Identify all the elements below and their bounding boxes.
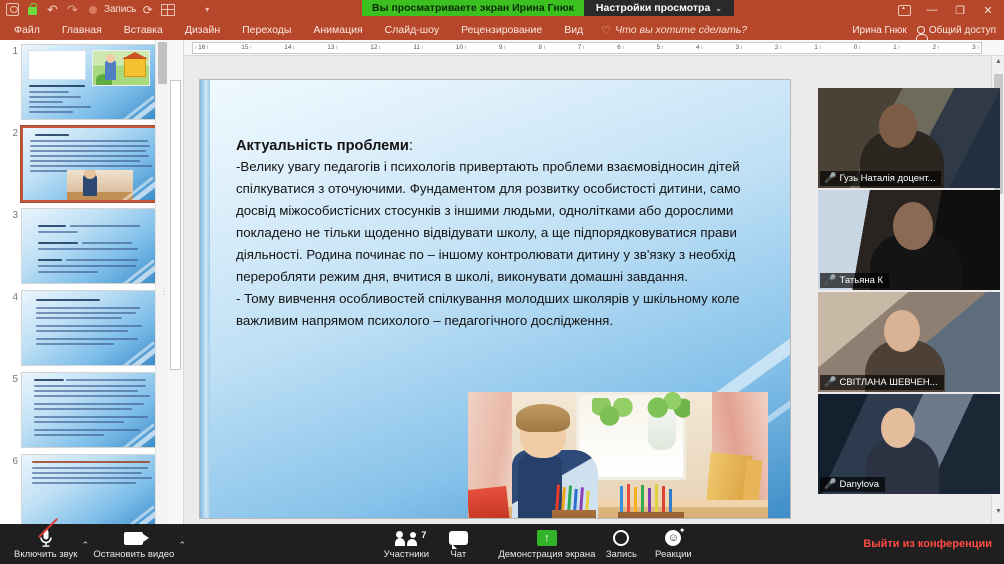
slide-paragraph: спілкуватися з оточуючими. Фундаментом д… (236, 178, 790, 200)
account-name: Ирина Гнюк (852, 25, 906, 36)
participant-video-strip: 🎤 Гузь Наталія доцент... 🎤 Татьяна К 🎤 С… (818, 88, 1000, 502)
list-item[interactable]: 4 (0, 286, 168, 368)
list-item[interactable]: 5 (0, 368, 168, 450)
ruler-number: 1 (893, 45, 897, 52)
ruler-number: 15 (241, 45, 248, 52)
ruler-number: 3 (735, 45, 739, 52)
ruler-number: 12 (370, 45, 377, 52)
slide-thumbnail-4[interactable] (21, 290, 157, 366)
ruler-number: 5 (657, 45, 661, 52)
list-item[interactable]: 3 (0, 204, 168, 286)
slide-paragraph: -Велику увагу педагогів і психологів при… (236, 156, 790, 178)
ruler-tick: ı (701, 45, 703, 51)
list-item[interactable]: 2 (0, 122, 168, 204)
ruler-tick: ı (293, 45, 295, 51)
minimize-button[interactable]: — (918, 0, 946, 20)
window-controls: — ❐ ✕ (890, 0, 1002, 20)
ribbon-tab-bar: Файл Главная Вставка Дизайн Переходы Ани… (0, 20, 1004, 40)
ruler-number: 8 (538, 45, 542, 52)
share-screen-label: Демонстрация экрана (498, 549, 595, 560)
ruler-number: 2 (933, 45, 937, 52)
ruler-tick: ı (336, 45, 338, 51)
stop-video-button[interactable]: Остановить видео (93, 524, 174, 564)
thumb-clipart (92, 50, 150, 86)
microphone-muted-icon: 🎤 (824, 174, 836, 184)
chat-label: Чат (450, 549, 466, 560)
reactions-label: Реакции (655, 549, 692, 560)
unmute-button[interactable]: Включить звук (14, 524, 77, 564)
quick-access-toolbar: ↷ ↷ Запись ⟳ ▾ (4, 1, 209, 18)
record-label: Запись (104, 4, 136, 15)
slide-heading-colon: : (409, 138, 413, 154)
view-options-label: Настройки просмотра (596, 2, 710, 14)
slide-number: 4 (4, 290, 18, 303)
thumb-title-placeholder (28, 50, 86, 80)
ruler-tick: ı (379, 45, 381, 51)
share-screen-icon: ↑ (537, 529, 557, 548)
ruler-number: 7 (578, 45, 582, 52)
schoolboy-at-desk-photo[interactable] (468, 392, 768, 518)
ruler-number: 16 (198, 45, 205, 52)
close-button[interactable]: ✕ (974, 0, 1002, 20)
microphone-muted-icon: 🎤 (824, 276, 836, 286)
tab-review[interactable]: Рецензирование (450, 20, 553, 40)
slide-thumbnail-3[interactable] (21, 208, 157, 284)
slide-paragraph: діяльності. Родина починає по – іншому к… (236, 244, 790, 266)
participants-label: Участники (384, 549, 429, 560)
ruler-tick: ı (465, 45, 467, 51)
participant-tile[interactable]: 🎤 Татьяна К (818, 190, 1000, 290)
chevron-up-icon[interactable]: ▲ (992, 58, 1004, 72)
slide-thumbnail-2[interactable] (21, 126, 157, 202)
slide-number: 2 (4, 126, 18, 139)
ruler-number: 0 (854, 45, 858, 52)
participant-name-label: 🎤 Danylova (820, 477, 885, 492)
horizontal-ruler: ı16ı 15ı 14ı 13ı 12ı 11ı 10ı 9ı 8ı 7ı 6ı… (184, 40, 1004, 56)
chevron-down-icon: ⌄ (715, 4, 722, 13)
zoom-share-banner: Вы просматриваете экран Ирина Гнюк Настр… (362, 0, 734, 16)
lock-icon[interactable] (24, 1, 41, 18)
save-icon[interactable] (4, 1, 21, 18)
ruler-number: 9 (499, 45, 503, 52)
ruler-number: 11 (413, 45, 420, 52)
chevron-down-icon[interactable]: ▼ (992, 508, 1004, 522)
unmute-label: Включить звук (14, 549, 77, 560)
tab-design[interactable]: Дизайн (174, 20, 231, 40)
share-button[interactable]: Общий доступ (917, 25, 996, 36)
thumbnail-pane-scrollbar[interactable]: ⋮ (155, 40, 168, 524)
reactions-button[interactable]: ☺ Реакции (647, 524, 699, 564)
record-circle-icon (613, 529, 629, 548)
stop-video-label: Остановить видео (93, 549, 174, 560)
zoom-meeting-toolbar: Включить звук ⌃ Остановить видео ⌃ 7 Уча… (0, 524, 1004, 564)
participant-tile[interactable]: 🎤 Гузь Наталія доцент... (818, 88, 1000, 188)
slide-thumbnail-5[interactable] (21, 372, 157, 448)
lightbulb-icon: ♡ (601, 24, 611, 37)
tab-home[interactable]: Главная (51, 20, 113, 40)
participant-tile[interactable]: 🎤 Danylova (818, 394, 1000, 494)
ruler-number: 10 (456, 45, 463, 52)
ruler-tick: ı (898, 45, 900, 51)
smiley-icon: ☺ (665, 529, 681, 548)
list-item[interactable]: 1 (0, 40, 168, 122)
ruler-tick: ı (938, 45, 940, 51)
slide-paragraph: покладено не тільки щоденно відвідувати … (236, 222, 790, 244)
slide-paragraph: важливим напрямом психолого – педагогічн… (236, 310, 790, 332)
ruler-tick: ı (662, 45, 664, 51)
participants-count: 7 (421, 530, 426, 540)
ruler-tick: ı (195, 45, 197, 51)
redo-icon[interactable]: ↷ (64, 1, 81, 18)
ribbon-display-options-button[interactable] (890, 0, 918, 20)
ruler-tick: ı (977, 45, 979, 51)
chat-bubble-icon (449, 529, 468, 548)
slide-number: 6 (4, 454, 18, 467)
ruler-tick: ı (422, 45, 424, 51)
microphone-muted-icon (39, 529, 53, 548)
slide-heading-text: Актуальність проблеми (236, 138, 409, 154)
ruler-number: 3 (972, 45, 976, 52)
ruler-number: 4 (696, 45, 700, 52)
ribbon-right-group: Ирина Гнюк Общий доступ (852, 25, 1004, 36)
participant-name: Татьяна К (839, 275, 883, 286)
ruler-number: 6 (617, 45, 621, 52)
ruler-tick: ı (504, 45, 506, 51)
tab-transitions[interactable]: Переходы (231, 20, 302, 40)
slide-paragraph: досвід міжособистісних стосунків з іншим… (236, 200, 790, 222)
view-options-button[interactable]: Настройки просмотра ⌄ (584, 0, 734, 16)
tab-animations[interactable]: Анимация (302, 20, 373, 40)
tell-me-search[interactable]: ♡ Что вы хотите сделать? (601, 24, 747, 37)
ruler-tick: ı (250, 45, 252, 51)
tab-slideshow[interactable]: Слайд-шоу (374, 20, 450, 40)
ruler-tick: ı (780, 45, 782, 51)
video-options-caret-icon[interactable]: ⌃ (174, 524, 190, 564)
record-dot-icon[interactable] (84, 1, 101, 18)
horizontal-ruler-track: ı16ı 15ı 14ı 13ı 12ı 11ı 10ı 9ı 8ı 7ı 6ı… (192, 42, 982, 54)
tab-insert[interactable]: Вставка (113, 20, 174, 40)
participant-tile[interactable]: 🎤 СВІТЛАНА ШЕВЧЕН... (818, 292, 1000, 392)
slide-paragraph: переробляти режим дня, вчитися в школі, … (236, 266, 790, 288)
slide-decoration-bar (200, 80, 210, 518)
thumb-photo (67, 170, 133, 200)
participant-name: Гузь Наталія доцент... (839, 173, 935, 184)
slide-paragraph: - Тому вивчення особливостей спілкування… (236, 288, 790, 310)
slide-number: 1 (4, 44, 18, 57)
participant-name: Danylova (839, 479, 879, 490)
slide-editing-surface[interactable]: Актуальність проблеми: -Велику увагу пед… (200, 80, 790, 518)
slide-thumbnail-pane[interactable]: 1 2 (0, 40, 168, 524)
ruler-number: 1 (814, 45, 818, 52)
vertical-ruler (168, 40, 184, 524)
slide-number: 3 (4, 208, 18, 221)
list-item[interactable]: 6 (0, 450, 168, 524)
microphone-muted-icon: 🎤 (824, 480, 836, 490)
slide-thumbnail-6[interactable] (21, 454, 157, 524)
participants-button[interactable]: 7 Участники (380, 524, 432, 564)
people-icon: 7 (395, 529, 417, 548)
record-button[interactable]: Запись (595, 524, 647, 564)
chevron-down-icon[interactable]: ▾ (205, 5, 209, 14)
participant-name: СВІТЛАНА ШЕВЧЕН... (839, 377, 937, 388)
ruler-tick: ı (819, 45, 821, 51)
slide-body-text: -Велику увагу педагогів і психологів при… (236, 156, 790, 333)
record-label: Запись (606, 549, 637, 560)
ruler-tick: ı (207, 45, 209, 51)
share-screen-button[interactable]: ↑ Демонстрация экрана (498, 524, 595, 564)
ruler-tick: ı (622, 45, 624, 51)
slide-number: 5 (4, 372, 18, 385)
person-icon (917, 26, 925, 34)
leave-meeting-button[interactable]: Выйти из конференции (863, 538, 992, 550)
viewing-screen-text: Вы просматриваете экран Ирина Гнюк (362, 0, 584, 16)
participant-name-label: 🎤 Гузь Наталія доцент... (820, 171, 941, 186)
camera-icon (124, 529, 143, 548)
refresh-icon[interactable]: ⟳ (139, 1, 156, 18)
scroll-dots-icon: ⋮ (160, 290, 168, 293)
ruler-number: 2 (775, 45, 779, 52)
ruler-tick: ı (859, 45, 861, 51)
slide-heading: Актуальність проблеми: (236, 138, 790, 154)
grid-icon[interactable] (159, 1, 176, 18)
ruler-tick: ı (543, 45, 545, 51)
ruler-number: 14 (284, 45, 291, 52)
share-label: Общий доступ (929, 25, 996, 36)
slide-thumbnail-1[interactable] (21, 44, 157, 120)
ruler-tick: ı (583, 45, 585, 51)
slide-text-placeholder[interactable]: Актуальність проблеми: -Велику увагу пед… (236, 138, 790, 333)
microphone-muted-icon: 🎤 (824, 378, 836, 388)
undo-icon[interactable]: ↷ (44, 1, 61, 18)
restore-button[interactable]: ❐ (946, 0, 974, 20)
tab-view[interactable]: Вид (553, 20, 594, 40)
screen-root: ↷ ↷ Запись ⟳ ▾ — ❐ ✕ Вы просматриваете э… (0, 0, 1004, 564)
participant-name-label: 🎤 Татьяна К (820, 273, 889, 288)
chat-button[interactable]: Чат (432, 524, 484, 564)
vertical-ruler-track (170, 80, 181, 370)
scrollbar-thumb[interactable] (158, 42, 167, 84)
audio-options-caret-icon[interactable]: ⌃ (77, 524, 93, 564)
tab-file[interactable]: Файл (0, 20, 51, 40)
ruler-number: 13 (327, 45, 334, 52)
ruler-tick: ı (741, 45, 743, 51)
participant-name-label: 🎤 СВІТЛАНА ШЕВЧЕН... (820, 375, 944, 390)
tell-me-label: Что вы хотите сделать? (615, 24, 747, 36)
